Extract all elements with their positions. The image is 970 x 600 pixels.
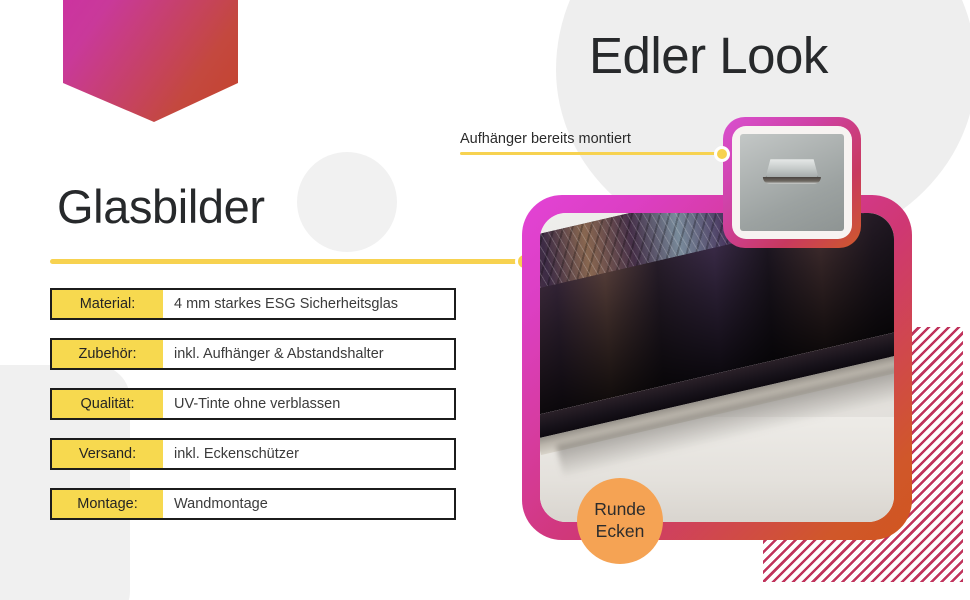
spec-key-qualitaet: Qualität: bbox=[52, 390, 163, 418]
table-row: Qualität: UV-Tinte ohne verblassen bbox=[50, 388, 456, 420]
hanger-detail-frame bbox=[732, 126, 852, 239]
title-divider-line bbox=[50, 259, 523, 264]
spec-value-zubehoer: inkl. Aufhänger & Abstandshalter bbox=[163, 340, 454, 368]
spec-value-montage: Wandmontage bbox=[163, 490, 454, 518]
infographic-canvas: Edler Look Glasbilder Material: 4 mm sta… bbox=[0, 0, 970, 600]
specification-table: Material: 4 mm starkes ESG Sicherheitsgl… bbox=[50, 288, 456, 538]
spec-key-material: Material: bbox=[52, 290, 163, 318]
table-row: Montage: Wandmontage bbox=[50, 488, 456, 520]
product-photo bbox=[540, 213, 894, 522]
table-row: Versand: inkl. Eckenschützer bbox=[50, 438, 456, 470]
spec-value-versand: inkl. Eckenschützer bbox=[163, 440, 454, 468]
page-title: Glasbilder bbox=[57, 179, 265, 234]
hanger-detail-card bbox=[723, 117, 861, 248]
tagline-heading: Edler Look bbox=[589, 26, 828, 85]
hanger-annotation-dot bbox=[714, 146, 730, 162]
badge-line-2: Ecken bbox=[596, 521, 645, 543]
table-row: Zubehör: inkl. Aufhänger & Abstandshalte… bbox=[50, 338, 456, 370]
hanger-slot-icon bbox=[763, 177, 821, 185]
spec-value-qualitaet: UV-Tinte ohne verblassen bbox=[163, 390, 454, 418]
hanger-plate-image bbox=[740, 134, 844, 231]
rounded-corners-badge: Runde Ecken bbox=[577, 478, 663, 564]
spec-key-versand: Versand: bbox=[52, 440, 163, 468]
spec-key-zubehoer: Zubehör: bbox=[52, 340, 163, 368]
table-row: Material: 4 mm starkes ESG Sicherheitsgl… bbox=[50, 288, 456, 320]
spec-value-material: 4 mm starkes ESG Sicherheitsglas bbox=[163, 290, 454, 318]
spec-key-montage: Montage: bbox=[52, 490, 163, 518]
product-photo-card bbox=[522, 195, 912, 540]
background-circle-accent bbox=[297, 152, 397, 252]
hanger-annotation-label: Aufhänger bereits montiert bbox=[460, 131, 631, 147]
brand-shield-badge bbox=[63, 0, 238, 122]
hanger-annotation-line bbox=[460, 152, 722, 155]
badge-line-1: Runde bbox=[594, 499, 646, 521]
